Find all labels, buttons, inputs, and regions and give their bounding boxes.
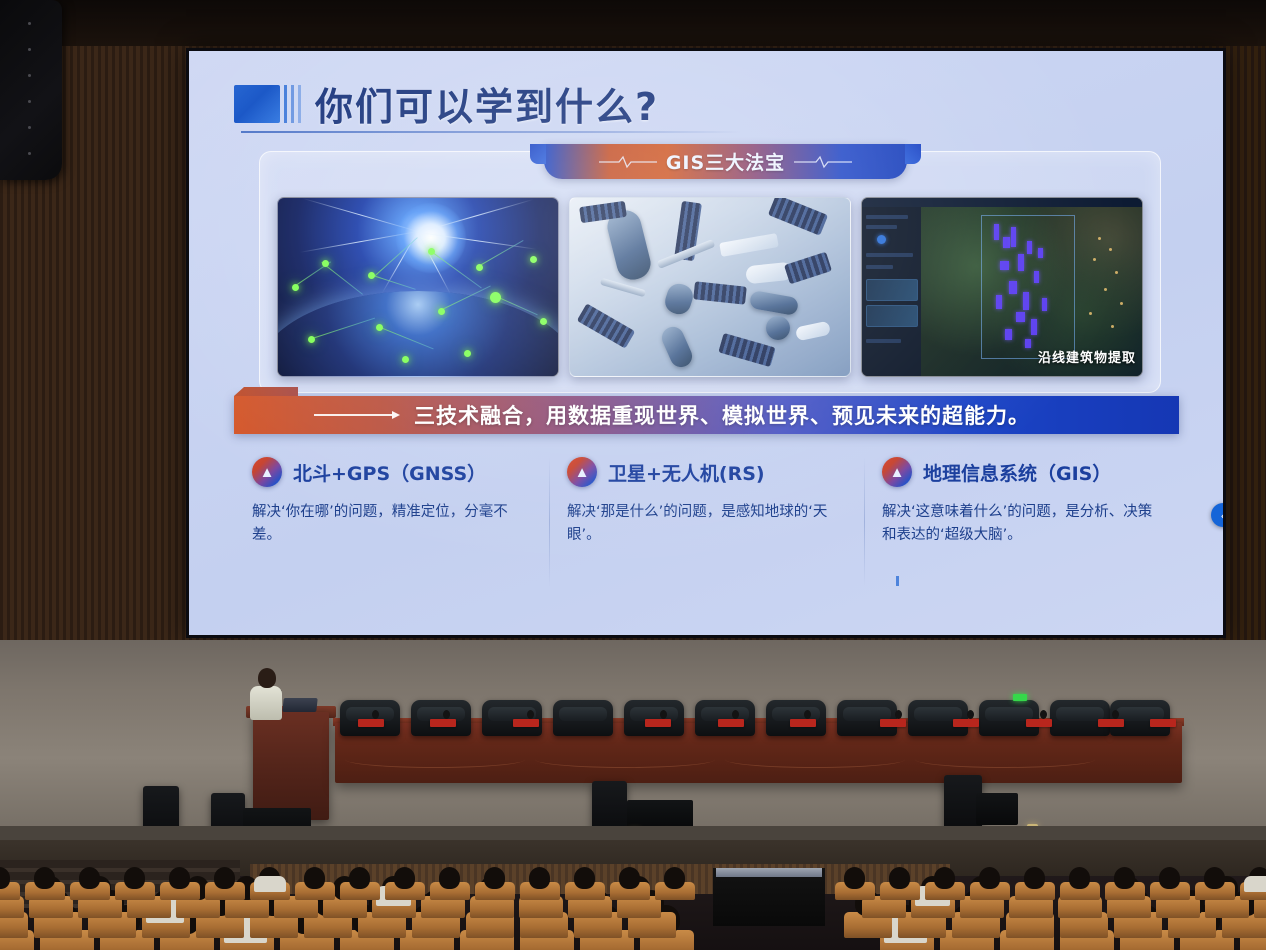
table-microphone [527, 710, 534, 719]
nameplate [513, 719, 539, 727]
feature-columns: ▲ 北斗+GPS（GNSS） 解决‘你在哪’的问题，精准定位，分毫不差。 ▲ 卫… [234, 451, 1179, 601]
audience-member [1204, 867, 1225, 889]
column-title: 卫星+无人机(RS) [608, 459, 765, 486]
gis-app-sidebar[interactable] [862, 207, 922, 377]
audience-member [169, 867, 190, 889]
chair [837, 700, 897, 736]
column-title: 地理信息系统（GIS） [923, 459, 1111, 486]
summary-text: 三技术融合，用数据重现世界、模拟世界、预见未来的超能力。 [414, 400, 1030, 430]
presentation-screen[interactable]: 你们可以学到什么? GIS三大法宝 [189, 51, 1223, 635]
audience-member [664, 867, 685, 889]
table-indicator-light [1013, 694, 1027, 701]
column-remote-sensing: ▲ 卫星+无人机(RS) 解决‘那是什么’的问题，是感知地球的‘天眼’。 [549, 451, 864, 601]
table-microphone [895, 710, 902, 719]
audience-member [439, 867, 460, 889]
panel-caption: 沿线建筑物提取 [1038, 347, 1136, 366]
nameplate [358, 719, 384, 727]
stage-speaker [592, 781, 627, 831]
audience-member [1159, 867, 1180, 889]
chair [553, 700, 613, 736]
page-title: 你们可以学到什么? [315, 76, 659, 131]
chair [482, 700, 542, 736]
summary-strip: 三技术融合，用数据重现世界、模拟世界、预见未来的超能力。 [234, 396, 1179, 434]
audience-member [529, 867, 550, 889]
podium [253, 712, 329, 820]
chair [979, 700, 1039, 736]
nameplate [790, 719, 816, 727]
remote-sensing-badge-icon: ▲ [567, 457, 597, 487]
auditorium-scene: 你们可以学到什么? GIS三大法宝 [0, 0, 1266, 950]
laptop-on-podium [282, 698, 317, 712]
audience-member [1069, 867, 1090, 889]
column-body: 解决‘那是什么’的问题，是感知地球的‘天眼’。 [567, 501, 842, 548]
audience-member [79, 867, 100, 889]
earth-globe-graphic [277, 291, 559, 377]
audience-member [349, 867, 370, 889]
column-body: 解决‘这意味着什么’的问题，是分析、决策和表达的‘超级大脑’。 [882, 501, 1157, 548]
audience-member [304, 867, 325, 889]
nameplate [718, 719, 744, 727]
stage-monitor [976, 793, 1018, 825]
table-microphone [804, 710, 811, 719]
audience-member [934, 867, 955, 889]
table-microphone [372, 710, 379, 719]
presenter-body [250, 686, 282, 720]
audience-member [979, 867, 1000, 889]
chair [340, 700, 400, 736]
pulse-line-right-icon [794, 155, 852, 169]
panel-satellite-constellation[interactable] [569, 197, 851, 377]
audience-member [124, 867, 145, 889]
chair [1110, 700, 1170, 736]
audience-member-light [1244, 876, 1266, 892]
audience-member [1114, 867, 1135, 889]
pulse-line-left-icon [599, 155, 657, 169]
table-microphone [967, 710, 974, 719]
column-header: ▲ 卫星+无人机(RS) [567, 451, 842, 493]
audience-member [1024, 867, 1045, 889]
ceiling-shadow [0, 0, 1266, 46]
nameplate [880, 719, 906, 727]
audience-member [484, 867, 505, 889]
audience-member [889, 867, 910, 889]
gis-map-canvas[interactable]: 沿线建筑物提取 [921, 207, 1142, 376]
table-microphone [1040, 710, 1047, 719]
column-title: 北斗+GPS（GNSS） [293, 459, 486, 486]
title-underline [241, 131, 741, 133]
title-bullet-icon [234, 85, 301, 123]
gnss-badge-icon: ▲ [252, 457, 282, 487]
nameplate [1026, 719, 1052, 727]
chair [908, 700, 968, 736]
panel-gnss-network[interactable] [277, 197, 559, 377]
table-microphone [732, 710, 739, 719]
nameplate [645, 719, 671, 727]
table-microphone [660, 710, 667, 719]
chair [1050, 700, 1110, 736]
hanging-speaker-array [0, 0, 62, 180]
nameplate [1150, 719, 1176, 727]
stage-monitor [627, 800, 693, 828]
strip-tail [234, 387, 298, 396]
chair [624, 700, 684, 736]
prev-slide-button[interactable]: ‹ [1211, 503, 1223, 527]
ribbon-label: GIS三大法宝 [666, 148, 785, 175]
audience-member [574, 867, 595, 889]
audience-member [844, 867, 865, 889]
chair [695, 700, 755, 736]
nameplate [953, 719, 979, 727]
audience-member [394, 867, 415, 889]
arrow-right-icon [314, 411, 400, 419]
column-body: 解决‘你在哪’的问题，精准定位，分毫不差。 [252, 501, 527, 548]
table-microphone [443, 710, 450, 719]
door-transom [716, 868, 822, 877]
audience-member [34, 867, 55, 889]
panel-gis-building-extraction[interactable]: 沿线建筑物提取 [861, 197, 1143, 377]
chair [766, 700, 826, 736]
column-gis: ▲ 地理信息系统（GIS） 解决‘这意味着什么’的问题，是分析、决策和表达的‘超… [864, 451, 1179, 601]
nameplate [430, 719, 456, 727]
image-panel-row: 沿线建筑物提取 [277, 197, 1143, 377]
column-header: ▲ 北斗+GPS（GNSS） [252, 451, 527, 493]
slide-title-row: 你们可以学到什么? [234, 76, 659, 131]
section-ribbon: GIS三大法宝 [544, 144, 907, 179]
text-cursor [896, 576, 899, 586]
presenter-head [258, 668, 276, 688]
audience-member-light [254, 876, 286, 892]
audience-member [214, 867, 235, 889]
chair [411, 700, 471, 736]
table-microphone [1112, 710, 1119, 719]
gis-badge-icon: ▲ [882, 457, 912, 487]
column-header: ▲ 地理信息系统（GIS） [882, 451, 1157, 493]
nameplate [1098, 719, 1124, 727]
audience-member [619, 867, 640, 889]
column-gnss: ▲ 北斗+GPS（GNSS） 解决‘你在哪’的问题，精准定位，分毫不差。 [234, 451, 549, 601]
